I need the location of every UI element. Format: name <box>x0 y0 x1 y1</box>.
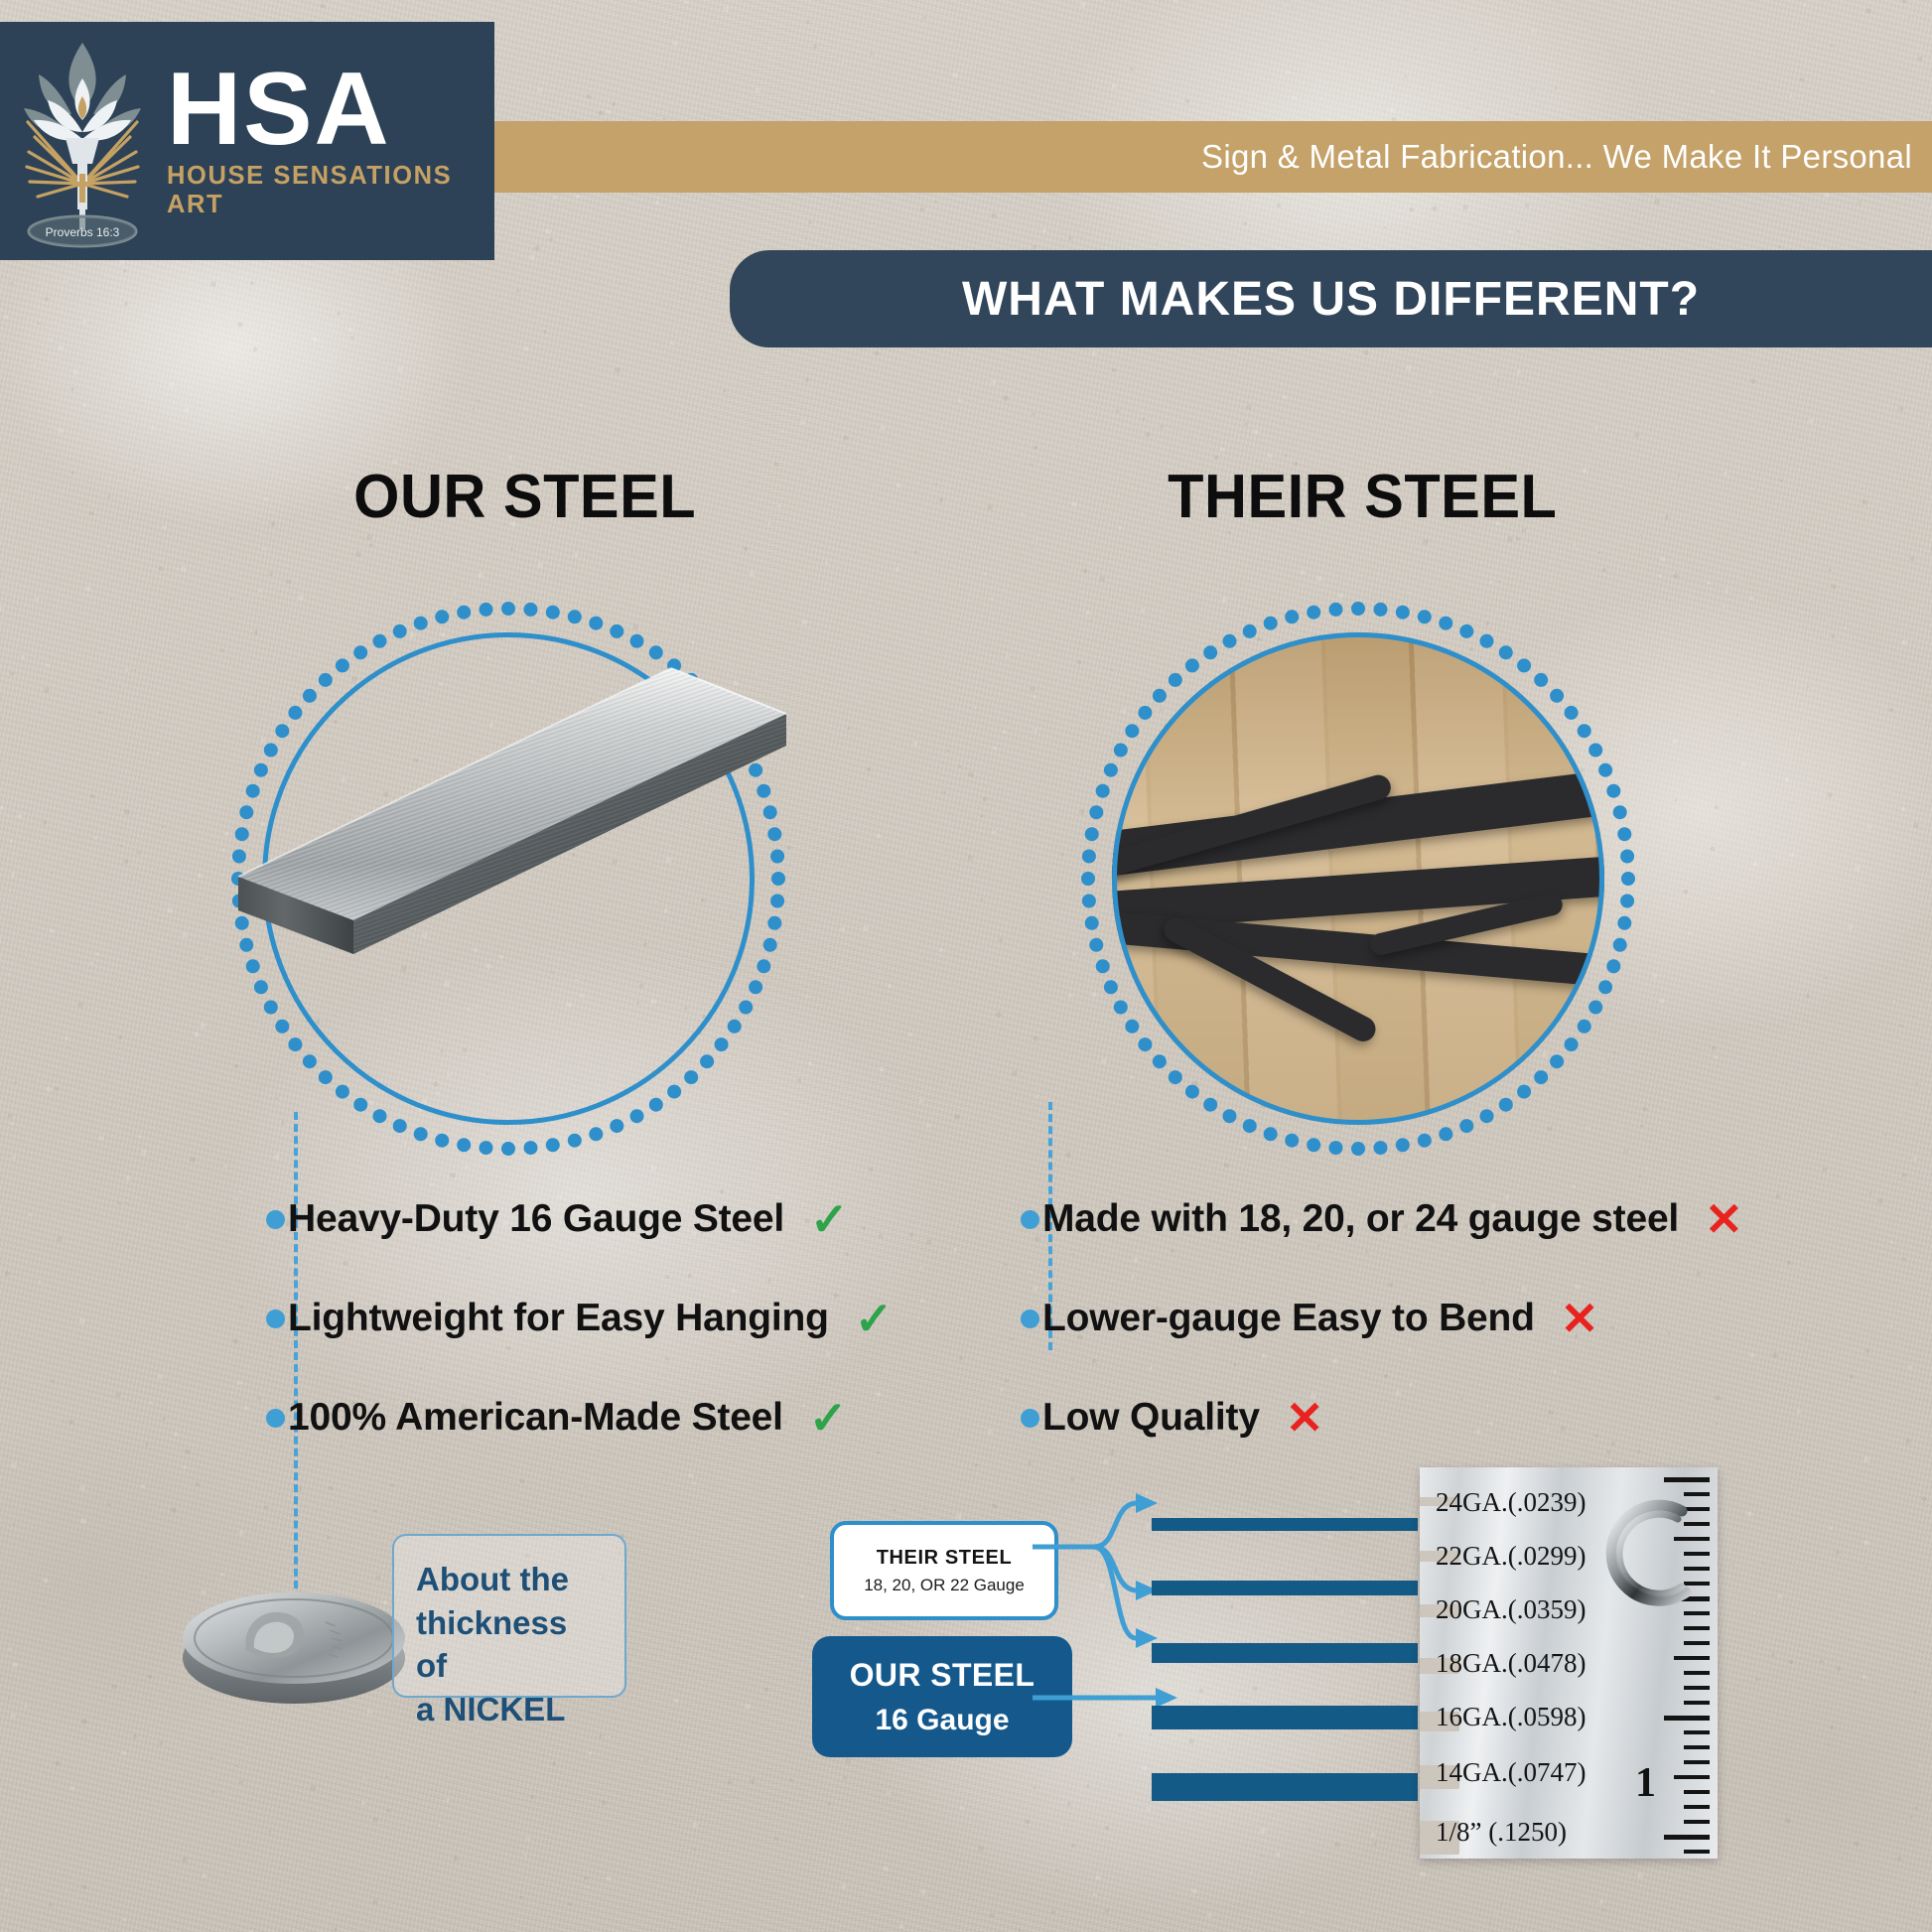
bullet-dot-icon <box>266 1210 285 1229</box>
their-steel-image-circle <box>1070 591 1646 1167</box>
gauge-their-subtitle: 18, 20, OR 22 Gauge <box>864 1576 1025 1595</box>
column-heading-theirs: THEIR STEEL <box>1168 462 1557 532</box>
torch-lotus-logo-icon: Proverbs 16:3 <box>8 35 157 248</box>
nickel-thickness-callout: About the thickness of a NICKEL <box>392 1534 626 1698</box>
logo-initials: HSA <box>167 63 494 158</box>
cross-icon: ✕ <box>1561 1296 1599 1341</box>
gauge-their-title: THEIR STEEL <box>877 1547 1013 1570</box>
list-item: 100% American-Made Steel ✓ <box>288 1380 893 1455</box>
thickness-bar-20ga <box>1152 1643 1418 1663</box>
bullet-dot-icon <box>266 1310 285 1328</box>
bullet-dot-icon <box>1021 1409 1039 1428</box>
bullet-dot-icon <box>1021 1210 1039 1229</box>
nickel-line-2: thickness of <box>416 1601 605 1688</box>
gauge-our-title: OUR STEEL <box>850 1657 1035 1694</box>
ruler-label-eighth-inch: 1/8” (.1250) <box>1436 1817 1567 1848</box>
brand-logo-block: Proverbs 16:3 HSA HOUSE SENSATIONS ART <box>0 22 494 260</box>
logo-verse-text: Proverbs 16:3 <box>46 225 120 239</box>
ruler-label-16ga: 16GA.(.0598) <box>1436 1702 1586 1732</box>
check-icon: ✓ <box>809 1395 848 1441</box>
cross-icon: ✕ <box>1705 1196 1743 1242</box>
nickel-line-3: a NICKEL <box>416 1688 605 1731</box>
bullet-list-ours: Heavy-Duty 16 Gauge Steel ✓ Lightweight … <box>288 1181 893 1479</box>
list-item: Heavy-Duty 16 Gauge Steel ✓ <box>288 1181 893 1257</box>
bullet-dot-icon <box>1021 1310 1039 1328</box>
column-heading-ours: OUR STEEL <box>353 462 696 532</box>
bullet-text: Heavy-Duty 16 Gauge Steel <box>288 1197 784 1241</box>
tagline-band: Sign & Metal Fabrication... We Make It P… <box>494 121 1932 193</box>
headline-text: WHAT MAKES US DIFFERENT? <box>962 272 1700 327</box>
check-icon: ✓ <box>810 1196 849 1242</box>
ruler-label-20ga: 20GA.(.0359) <box>1436 1594 1586 1625</box>
bullet-text: Lightweight for Easy Hanging <box>288 1297 829 1340</box>
ruler-inch-label: 1 <box>1635 1759 1656 1807</box>
list-item: Low Quality ✕ <box>1042 1380 1743 1455</box>
thickness-bar-18ga <box>1152 1706 1418 1729</box>
thickness-bar-24ga <box>1152 1518 1418 1531</box>
steel-flat-bar-image <box>224 650 800 988</box>
solid-ring-theirs <box>1112 632 1604 1125</box>
thickness-bar-16ga <box>1152 1773 1418 1801</box>
ruler-label-24ga: 24GA.(.0239) <box>1436 1487 1586 1518</box>
logo-company-name: HOUSE SENSATIONS ART <box>167 162 494 219</box>
list-item: Lower-gauge Easy to Bend ✕ <box>1042 1281 1743 1356</box>
thickness-bar-22ga <box>1152 1581 1418 1595</box>
ruler-label-14ga: 14GA.(.0747) <box>1436 1757 1586 1788</box>
our-steel-image-circle <box>220 591 796 1167</box>
check-icon: ✓ <box>855 1296 894 1341</box>
bullet-text: Made with 18, 20, or 24 gauge steel <box>1042 1197 1679 1241</box>
metal-key-ring-icon <box>1587 1489 1718 1620</box>
gauge-our-subtitle: 16 Gauge <box>875 1704 1009 1737</box>
ruler-label-18ga: 18GA.(.0478) <box>1436 1648 1586 1679</box>
nickel-coin-image <box>177 1551 425 1710</box>
tagline-text: Sign & Metal Fabrication... We Make It P… <box>1201 138 1932 176</box>
bullet-text: 100% American-Made Steel <box>288 1396 783 1440</box>
list-item: Lightweight for Easy Hanging ✓ <box>288 1281 893 1356</box>
ruler-label-22ga: 22GA.(.0299) <box>1436 1541 1586 1572</box>
bullet-dot-icon <box>266 1409 285 1428</box>
cross-icon: ✕ <box>1286 1395 1324 1441</box>
headline-banner: WHAT MAKES US DIFFERENT? <box>730 250 1932 347</box>
list-item: Made with 18, 20, or 24 gauge steel ✕ <box>1042 1181 1743 1257</box>
brand-logo-text: HSA HOUSE SENSATIONS ART <box>167 63 494 220</box>
bullet-list-theirs: Made with 18, 20, or 24 gauge steel ✕ Lo… <box>1042 1181 1743 1479</box>
gauge-label-their-steel: THEIR STEEL 18, 20, OR 22 Gauge <box>830 1521 1058 1620</box>
nickel-line-1: About the <box>416 1558 605 1601</box>
bullet-text: Low Quality <box>1042 1396 1260 1440</box>
bullet-text: Lower-gauge Easy to Bend <box>1042 1297 1535 1340</box>
